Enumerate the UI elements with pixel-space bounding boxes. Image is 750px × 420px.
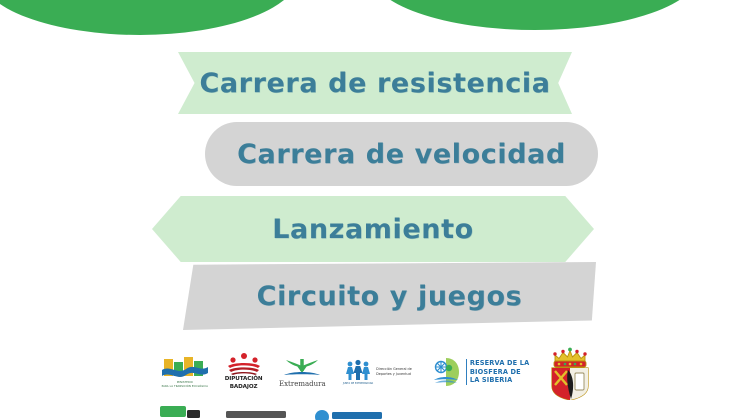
reserva-line1: RESERVA DE LA [470,359,530,368]
activity-label: Lanzamiento [272,216,474,243]
extremadura-leaf-icon [281,357,323,379]
sponsor-diputacion: DIPUTACIÓN BADAJOZ [220,353,268,391]
sponsor-reserva-biosfera: RESERVA DE LA BIOSFERA DE LA SIBERIA [428,355,531,389]
poster-canvas: Carrera de resistencia Carrera de veloci… [0,0,750,420]
diputacion-name-line1: DIPUTACIÓN [225,376,263,383]
junta-caption: JUNTA DE EXTREMADURA [343,382,373,385]
reserva-line2: BIOSFERA DE [470,368,530,377]
sponsor-junta-extremadura: JUNTA DE EXTREMADURA Dirección General d… [337,359,417,385]
activity-banner-velocidad: Carrera de velocidad [205,122,598,186]
activity-banner-lanzamiento: Lanzamiento [152,196,594,262]
junta-people-icon: JUNTA DE EXTREMADURA [343,359,373,385]
activity-banner-resistencia: Carrera de resistencia [178,52,572,114]
activity-banner-list: Carrera de resistencia Carrera de veloci… [0,0,750,340]
sponsor-logo-strip: MINISTERIO PARA LA TRANSICIÓN ECOLÓGICA … [160,344,600,400]
sponsor-ministerio: MINISTERIO PARA LA TRANSICIÓN ECOLÓGICA [160,356,210,388]
activity-label: Carrera de velocidad [237,141,566,168]
junta-dg-line2: Deportes y Juventud [376,372,412,377]
partial-logo-green [160,404,200,420]
activity-label: Circuito y juegos [257,283,523,310]
extremadura-label: Extremadura [279,380,326,388]
partial-logo-blue [312,404,382,420]
sponsor-logo-strip-secondary [160,404,600,420]
ministerio-caption-line2: PARA LA TRANSICIÓN ECOLÓGICA [162,385,208,388]
activity-label: Carrera de resistencia [199,70,550,97]
diputacion-name-line2: BADAJOZ [230,384,258,391]
activity-banner-circuito: Circuito y juegos [183,262,596,330]
partial-logo-dark [226,404,286,420]
ministerio-caption-line1: MINISTERIO [177,381,193,384]
biosfera-circle-icon [429,355,463,389]
reserva-divider [466,359,467,385]
sponsor-extremadura: Extremadura [278,357,328,388]
coat-of-arms-icon [542,344,598,400]
reserva-line3: LA SIBERIA [470,376,530,385]
ministerio-m-logo [162,356,208,380]
diputacion-people-icon [224,353,264,375]
sponsor-escudo-municipal [541,344,600,400]
